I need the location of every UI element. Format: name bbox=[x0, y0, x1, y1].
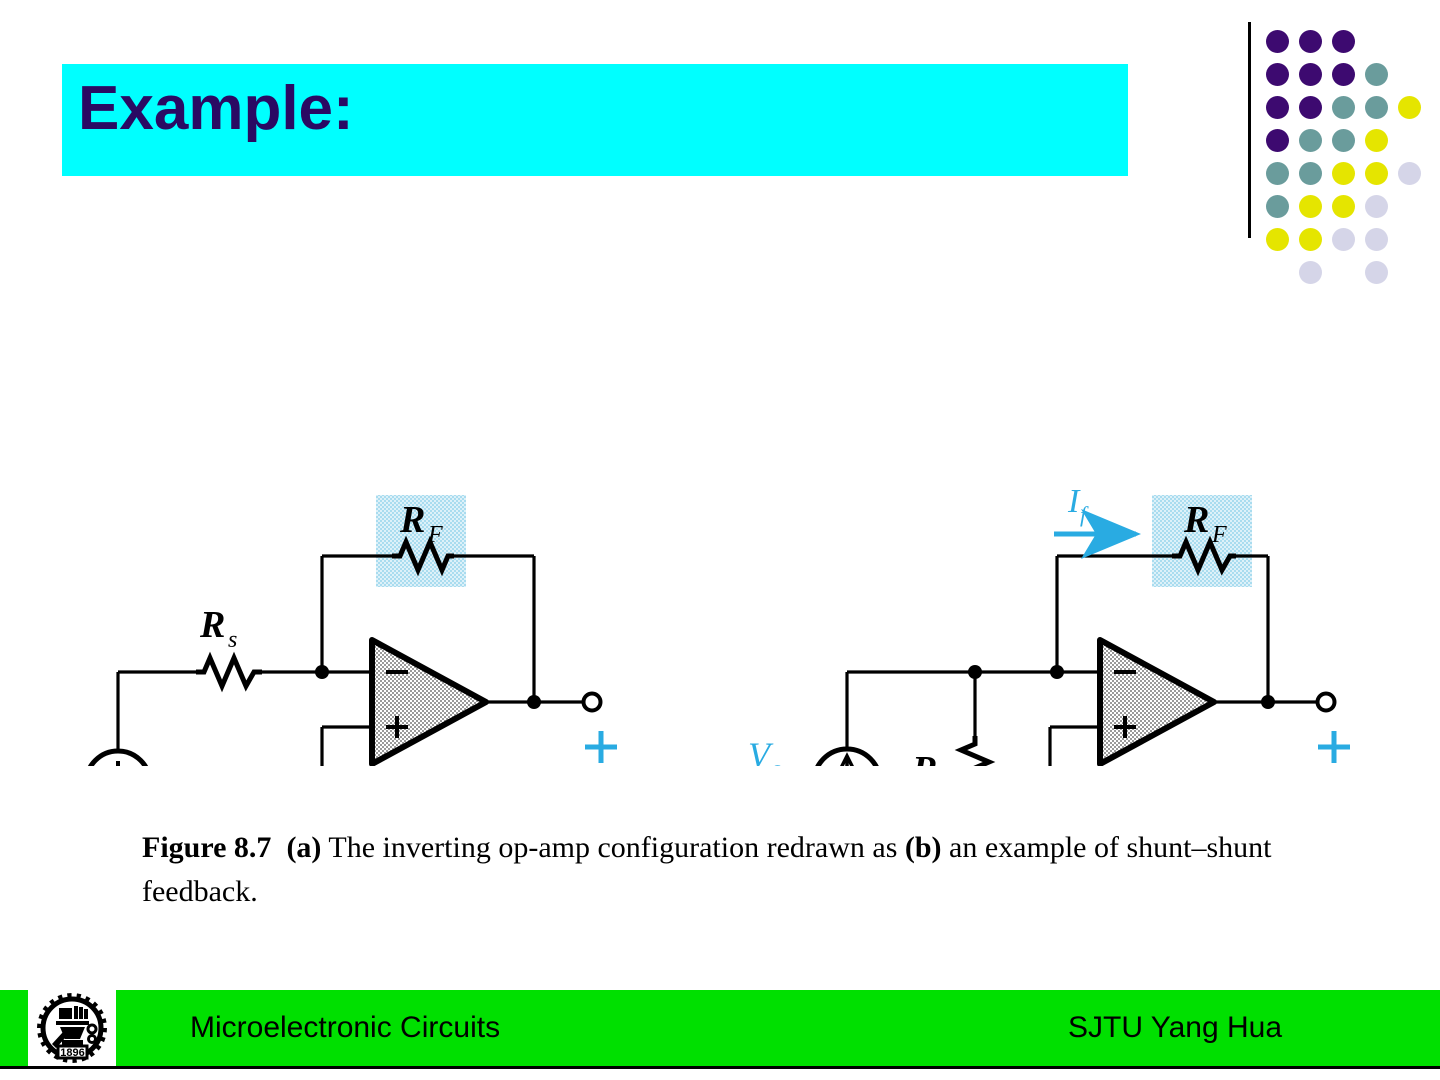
resistor-rs-b bbox=[961, 736, 989, 766]
decor-dot bbox=[1299, 162, 1322, 185]
label-is-b: I bbox=[667, 763, 683, 766]
output-plus-a bbox=[585, 731, 617, 763]
decor-dot bbox=[1332, 96, 1355, 119]
caption-part-a: (a) bbox=[286, 831, 321, 864]
decor-dot bbox=[1332, 129, 1355, 152]
decor-dot bbox=[1365, 195, 1388, 218]
label-if-sub-b: f bbox=[1080, 502, 1089, 527]
decor-dot bbox=[1299, 195, 1322, 218]
decor-dot bbox=[1299, 96, 1322, 119]
resistor-rs-a bbox=[196, 658, 262, 686]
label-is-equals-b: = bbox=[700, 760, 720, 766]
decor-dot bbox=[1266, 63, 1289, 86]
junction-dot-b-rs bbox=[968, 665, 982, 679]
decor-vertical-rule bbox=[1248, 22, 1251, 238]
label-rs-b: R bbox=[911, 749, 937, 766]
label-is-numerator-b: V bbox=[748, 735, 774, 766]
label-rs-sub-a: s bbox=[228, 627, 237, 653]
circuit-b: I s = V s R s R s R F I f V o (b) bbox=[667, 483, 1370, 766]
decor-dot bbox=[1299, 63, 1322, 86]
decor-dot bbox=[1398, 162, 1421, 185]
figure-8-7: V s R s R F V o (a) bbox=[0, 236, 1440, 766]
decor-dot bbox=[1365, 162, 1388, 185]
junction-dot-b-input bbox=[1050, 665, 1064, 679]
figure-caption: Figure 8.7 (a) The inverting op-amp conf… bbox=[142, 826, 1272, 913]
decor-dot bbox=[1266, 195, 1289, 218]
label-if-b: I bbox=[1067, 483, 1081, 520]
decor-dot bbox=[1266, 30, 1289, 53]
label-rf-a: R bbox=[399, 499, 425, 541]
output-terminal-a bbox=[584, 694, 601, 711]
decor-dot bbox=[1332, 162, 1355, 185]
decor-dot bbox=[1398, 96, 1421, 119]
caption-part-b: (b) bbox=[905, 831, 942, 864]
wires-b bbox=[847, 556, 1340, 766]
caption-text-1: The inverting op-amp configuration redra… bbox=[328, 831, 897, 864]
label-rs-a: R bbox=[199, 604, 225, 646]
decor-dot bbox=[1266, 162, 1289, 185]
decor-dot bbox=[1332, 63, 1355, 86]
decor-dot bbox=[1266, 96, 1289, 119]
decor-dot bbox=[1266, 129, 1289, 152]
sjtu-logo-icon: 1896 bbox=[30, 992, 114, 1064]
decor-dot bbox=[1332, 195, 1355, 218]
circuit-a: V s R s R F V o (a) bbox=[44, 495, 637, 766]
opamp-a bbox=[372, 640, 486, 764]
label-rf-sub-a: F bbox=[427, 522, 443, 548]
output-terminal-b bbox=[1318, 694, 1335, 711]
logo-year: 1896 bbox=[60, 1047, 84, 1059]
footer-bottom-rule bbox=[0, 1066, 1440, 1069]
footer-author: SJTU Yang Hua bbox=[1068, 1011, 1282, 1045]
dot-grid-decoration bbox=[1248, 14, 1440, 268]
decor-dot bbox=[1365, 96, 1388, 119]
footer-course-title: Microelectronic Circuits bbox=[190, 1011, 500, 1045]
wires-a bbox=[118, 556, 607, 766]
opamp-b bbox=[1100, 640, 1214, 764]
label-rf-b: R bbox=[1183, 499, 1209, 541]
decor-dot bbox=[1332, 30, 1355, 53]
decor-dot bbox=[1299, 129, 1322, 152]
label-is-numerator-sub-b: s bbox=[772, 756, 781, 766]
output-plus-b bbox=[1318, 731, 1350, 763]
junction-dot-b-output bbox=[1261, 695, 1275, 709]
caption-figure-number: Figure 8.7 bbox=[142, 831, 271, 864]
decor-dot bbox=[1299, 30, 1322, 53]
page-title: Example: bbox=[78, 78, 354, 140]
junction-dot-a-input bbox=[315, 665, 329, 679]
label-rf-sub-b: F bbox=[1211, 522, 1227, 548]
decor-dot bbox=[1365, 63, 1388, 86]
decor-dot bbox=[1365, 129, 1388, 152]
junction-dot-a-output bbox=[527, 695, 541, 709]
